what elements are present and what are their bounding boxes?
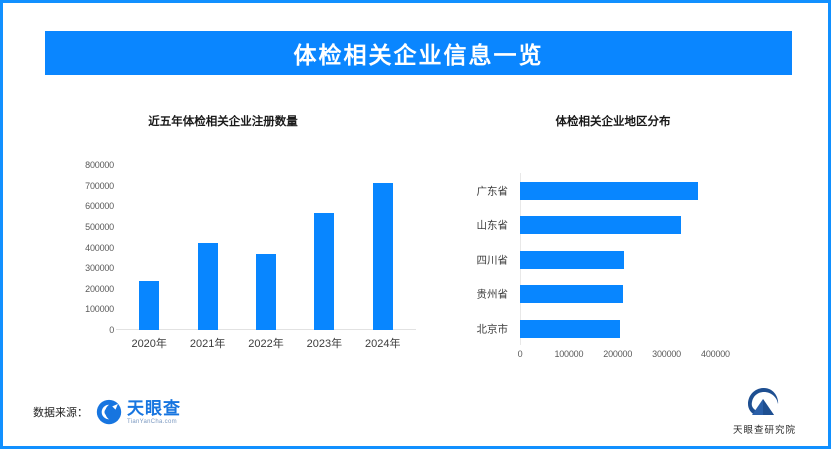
chart-registrations-title: 近五年体检相关企业注册数量 — [58, 113, 388, 129]
category-label: 广东省 — [477, 183, 509, 198]
chart-registrations-y-axis: 0100000200000300000400000500000600000700… — [58, 165, 114, 330]
tianyancha-logo: 天眼查 TianYanCha.com — [96, 399, 181, 425]
x-tick-label: 400000 — [701, 349, 730, 359]
title-banner: 体检相关企业信息一览 — [45, 31, 792, 75]
bar-2024年 — [373, 183, 393, 330]
chart-region-distribution-title: 体检相关企业地区分布 — [478, 113, 748, 129]
y-tick-label: 300000 — [85, 263, 114, 273]
y-tick-label: 500000 — [85, 222, 114, 232]
bar-广东省: 广东省 — [520, 182, 698, 200]
chart-registrations-x-axis: 2020年2021年2022年2023年2024年 — [120, 335, 412, 355]
bar-北京市: 北京市 — [520, 320, 620, 338]
bar-山东省: 山东省 — [520, 216, 681, 234]
bar-column — [198, 165, 218, 330]
y-tick-label: 800000 — [85, 160, 114, 170]
x-tick-label: 300000 — [652, 349, 681, 359]
institute-logo: 天眼查研究院 — [733, 385, 796, 436]
chart-region-distribution-plot: 广东省山东省四川省贵州省北京市 — [520, 173, 735, 345]
y-tick-label: 600000 — [85, 201, 114, 211]
chart-region-distribution-x-axis: 0100000200000300000400000 — [520, 349, 735, 367]
bar-column — [256, 165, 276, 330]
bar-贵州省: 贵州省 — [520, 285, 623, 303]
x-tick-label: 200000 — [603, 349, 632, 359]
category-label: 四川省 — [477, 252, 509, 267]
category-label: 北京市 — [477, 321, 509, 336]
x-tick-label: 0 — [518, 349, 523, 359]
infographic-page: 体检相关企业信息一览 近五年体检相关企业注册数量 010000020000030… — [0, 0, 831, 449]
bar-四川省: 四川省 — [520, 251, 624, 269]
institute-name: 天眼查研究院 — [733, 422, 796, 436]
chart-registrations: 近五年体检相关企业注册数量 01000002000003000004000005… — [58, 95, 428, 370]
brand-name: 天眼查 — [127, 400, 181, 417]
brand-domain: TianYanCha.com — [127, 419, 181, 425]
chart-registrations-plot — [120, 165, 412, 330]
page-title: 体检相关企业信息一览 — [294, 36, 544, 70]
y-tick-label: 100000 — [85, 304, 114, 314]
x-tick-label: 2024年 — [365, 335, 400, 351]
bar-2023年 — [314, 213, 334, 330]
x-tick-label: 100000 — [554, 349, 583, 359]
bar-2020年 — [139, 281, 159, 331]
y-tick-label: 700000 — [85, 181, 114, 191]
y-tick-label: 400000 — [85, 243, 114, 253]
x-tick-label: 2021年 — [190, 335, 225, 351]
x-tick-label: 2023年 — [307, 335, 342, 351]
y-tick-label: 200000 — [85, 284, 114, 294]
category-label: 贵州省 — [477, 287, 509, 302]
tianyancha-institute-icon — [744, 385, 784, 419]
bar-2021年 — [198, 243, 218, 330]
bar-column — [139, 165, 159, 330]
bar-2022年 — [256, 254, 276, 330]
charts-container: 近五年体检相关企业注册数量 01000002000003000004000005… — [3, 95, 831, 370]
x-tick-label: 2020年 — [131, 335, 166, 351]
y-tick-label: 0 — [109, 325, 114, 335]
x-tick-label: 2022年 — [248, 335, 283, 351]
bar-column — [373, 165, 393, 330]
bar-column — [314, 165, 334, 330]
tianyancha-wordmark: 天眼查 TianYanCha.com — [127, 400, 181, 425]
data-source: 数据来源： 天眼查 TianYanCha.com — [33, 399, 181, 425]
data-source-label: 数据来源： — [33, 404, 88, 420]
chart-region-distribution: 体检相关企业地区分布 广东省山东省四川省贵州省北京市 0100000200000… — [458, 95, 798, 370]
category-label: 山东省 — [477, 218, 509, 233]
tianyancha-eye-icon — [96, 399, 122, 425]
